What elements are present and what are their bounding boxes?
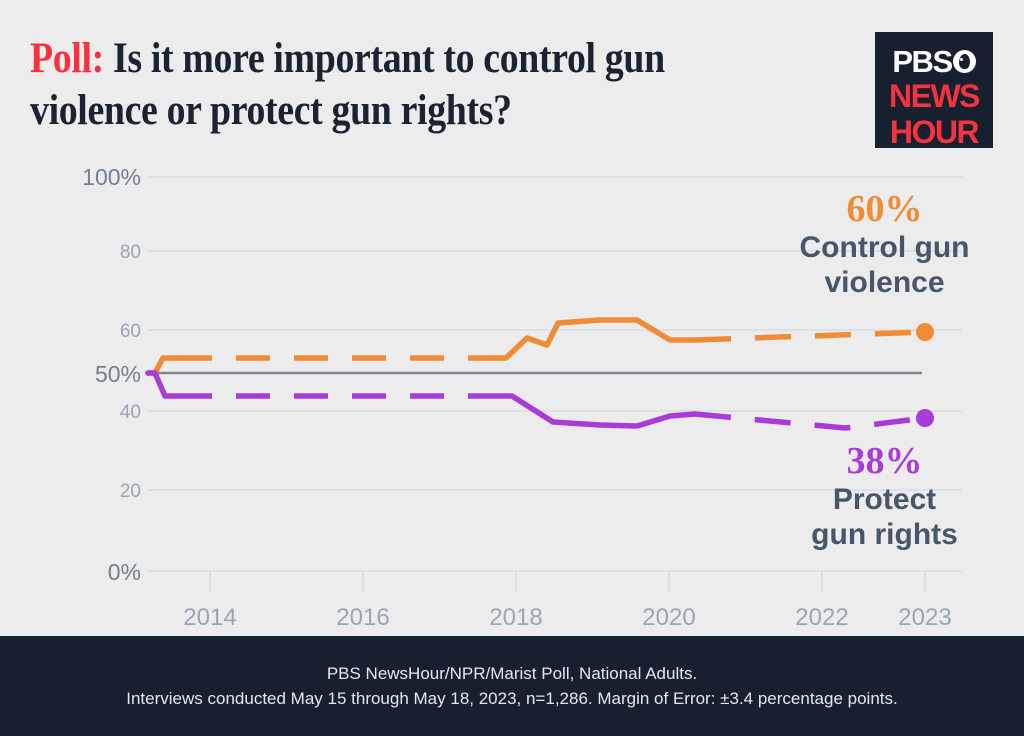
page-title: Poll: Is it more important to control gu… bbox=[30, 33, 699, 138]
xlabel-2023: 2023 bbox=[898, 604, 951, 631]
logo-pbs-text: PBS bbox=[892, 46, 951, 77]
protect-line-dashed-late bbox=[695, 414, 925, 428]
pbs-head-icon bbox=[953, 50, 976, 73]
footer-line-2: Interviews conducted May 15 through May … bbox=[126, 686, 897, 712]
footer-source-note: PBS NewsHour/NPR/Marist Poll, National A… bbox=[0, 636, 1024, 736]
logo-line-news: NEWS bbox=[875, 78, 993, 114]
logo-line-hour: HOUR bbox=[875, 114, 993, 156]
control-value: 60% bbox=[752, 190, 1017, 230]
control-label-line1: Control gun bbox=[752, 230, 1017, 265]
xlabel-2020: 2020 bbox=[642, 604, 695, 631]
series-protect-gun-rights bbox=[148, 373, 934, 428]
control-line-solid-mid bbox=[492, 320, 695, 358]
annotation-control-gun-violence: 60% Control gun violence bbox=[752, 190, 1017, 301]
ylabel-80: 80 bbox=[120, 242, 141, 263]
poll-chart-page: Poll: Is it more important to control gu… bbox=[0, 0, 1024, 736]
ylabel-40: 40 bbox=[120, 402, 141, 423]
ylabel-100: 100% bbox=[82, 164, 141, 190]
protect-line-stub bbox=[148, 373, 178, 396]
protect-label-line1: Protect bbox=[752, 482, 1017, 517]
control-line-dashed-late bbox=[695, 332, 925, 340]
protect-label-line2: gun rights bbox=[752, 517, 1017, 552]
control-endpoint-dot bbox=[916, 323, 934, 341]
title-main-text: Is it more important to control gun viol… bbox=[30, 35, 665, 134]
x-axis-labels: 2014 2016 2018 2020 2022 2023 bbox=[183, 604, 951, 631]
annotation-protect-gun-rights: 38% Protect gun rights bbox=[752, 442, 1017, 553]
ylabel-0: 0% bbox=[108, 559, 141, 585]
protect-endpoint-dot bbox=[916, 409, 934, 427]
y-axis-labels: 100% 80 60 50% 40 20 0% bbox=[82, 164, 141, 585]
header: Poll: Is it more important to control gu… bbox=[0, 0, 1024, 160]
xlabel-2016: 2016 bbox=[336, 604, 389, 631]
xlabel-2014: 2014 bbox=[183, 604, 236, 631]
pbs-newshour-logo: PBS NEWS HOUR bbox=[875, 32, 993, 148]
control-label-line2: violence bbox=[752, 265, 1017, 300]
series-control-gun-violence bbox=[148, 320, 934, 373]
title-accent-word: Poll: bbox=[30, 35, 104, 82]
ylabel-50: 50% bbox=[95, 361, 141, 387]
protect-value: 38% bbox=[752, 442, 1017, 482]
ylabel-20: 20 bbox=[120, 481, 141, 502]
xlabel-2022: 2022 bbox=[795, 604, 848, 631]
x-axis-ticks bbox=[210, 571, 925, 592]
footer-line-1: PBS NewsHour/NPR/Marist Poll, National A… bbox=[327, 661, 697, 687]
ylabel-60: 60 bbox=[120, 321, 141, 342]
xlabel-2018: 2018 bbox=[489, 604, 542, 631]
logo-line-pbs: PBS bbox=[875, 32, 993, 78]
